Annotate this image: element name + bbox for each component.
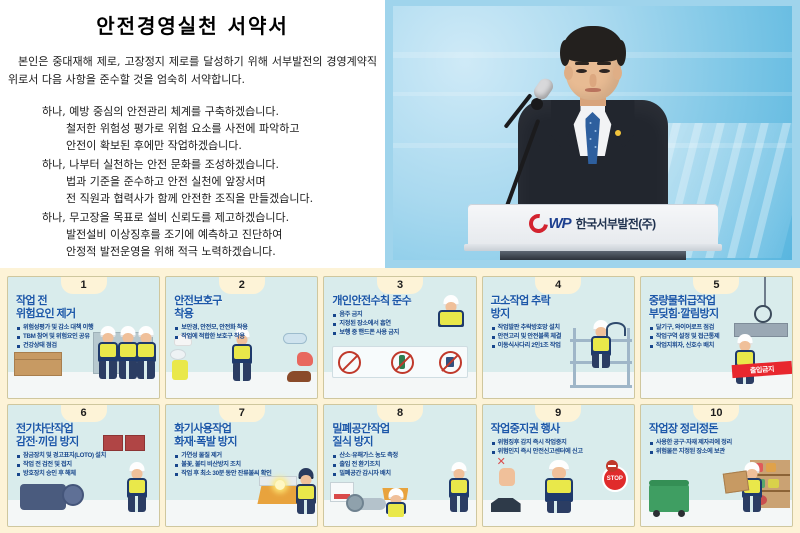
card-bullet: 밀폐공간 감시자 배치 (333, 470, 475, 478)
ceremony-photo: WP 한국서부발전(주) (385, 0, 800, 268)
pledge-item-detail: 발전설비 이상징후를 조기에 예측하고 진단하여 (8, 226, 377, 243)
card-floor (324, 372, 475, 398)
card-number: 2 (239, 280, 245, 291)
card-number-tab: 4 (535, 277, 581, 294)
raised-palm-icon (499, 468, 515, 486)
scaffold-rail (570, 361, 632, 364)
timber-stack (14, 352, 62, 360)
pledge-item-heading: 하나, 예방 중심의 안전관리 체계를 구축하겠습니다. (8, 103, 377, 120)
card-number: 5 (713, 280, 719, 291)
card-bullet: 안전고리 및 안전블록 체결 (492, 333, 634, 341)
mouth (585, 88, 601, 92)
warning-signboard (330, 482, 354, 502)
card-title: 전기차단작업 감전·끼임 방지 (16, 423, 159, 449)
card-bullet: 작업발판 추락방호망 설치 (492, 324, 634, 332)
speaker-figure (503, 26, 683, 216)
pledge-item-heading: 하나, 나부터 실천하는 안전 문화를 조성하겠습니다. (8, 156, 377, 173)
card-title: 개인안전수칙 준수 (332, 295, 475, 308)
pledge-document: 안전경영실천 서약서 본인은 중대재해 제로, 고장정지 제로를 달성하기 위해… (0, 0, 385, 268)
pledge-item-list: 하나, 예방 중심의 안전관리 체계를 구축하겠습니다. 철저한 위험성 평가로… (8, 103, 377, 260)
no-smoking-icon (338, 351, 361, 374)
card-bullet: 산소·유해가스 농도 측정 (333, 452, 475, 460)
safety-card-6[interactable]: 6 전기차단작업 감전·끼임 방지 잠금장치 및 경고표지(LOTO) 설치 작… (7, 404, 160, 527)
safety-card-3[interactable]: 3 개인안전수칙 준수 음주 금지 지정된 장소에서 흡연 보행 중 핸드폰 사… (323, 276, 476, 399)
card-number: 7 (239, 408, 245, 419)
podium-lip (464, 244, 722, 251)
card-number-tab: 1 (61, 277, 107, 294)
card-floor (166, 500, 317, 526)
card-title: 고소작업 추락 방지 (491, 295, 634, 321)
card-floor (8, 372, 159, 398)
card-number-tab: 5 (693, 277, 739, 294)
card-bullet-list: 위험징후 감지 즉시 작업중지 위험인지 즉시 안전신고센터에 신고 (492, 439, 634, 456)
pledge-intro-text: 본인은 중대재해 제로, 고장정지 제로를 달성하기 위해 서부발전의 경영계약… (8, 53, 377, 89)
card-number: 10 (710, 408, 722, 419)
card-bullet: 작업지휘자, 신호수 배치 (650, 342, 792, 350)
logo-swoosh-icon (529, 214, 548, 233)
x-mark-icon: ✕ (497, 457, 508, 468)
card-floor (483, 500, 634, 526)
card-bullet-list: 산소·유해가스 농도 측정 출입 전 환기조치 밀폐공간 감시자 배치 (333, 452, 475, 478)
card-bullet: 잠금장치 및 경고표지(LOTO) 설치 (17, 452, 159, 460)
card-number-tab: 8 (377, 405, 423, 422)
dust-mask-icon (170, 349, 186, 360)
stop-sign-icon: STOP (602, 466, 628, 492)
safety-card-1[interactable]: 1 작업 전 위험요인 제거 위험성평가 및 감소 대책 이행 TBM 참여 및… (7, 276, 160, 399)
prohibition-sign-icon (606, 460, 618, 472)
card-title: 밀폐공간작업 질식 방지 (332, 423, 475, 449)
safety-card-7[interactable]: 7 화기사용작업 화재·폭발 방지 가연성 물질 제거 불꽃, 불티 비산방지 … (165, 404, 318, 527)
podium-front-panel: WP 한국서부발전(주) (468, 204, 718, 244)
no-phone-walking-icon (439, 351, 462, 374)
ear-left (564, 66, 573, 80)
card-bullet-list: 잠금장치 및 경고표지(LOTO) 설치 작업 전 검전 및 접지 방호장치 승… (17, 452, 159, 478)
card-number: 6 (81, 408, 87, 419)
safety-card-row: 6 전기차단작업 감전·끼임 방지 잠금장치 및 경고표지(LOTO) 설치 작… (7, 404, 793, 527)
podium: WP 한국서부발전(주) (468, 204, 718, 260)
card-number: 3 (397, 280, 403, 291)
pledge-item-detail: 철저한 위험성 평가로 위험 요소를 사전에 파악하고 (8, 120, 377, 137)
card-bullet: 보안경, 안전모, 안전화 착용 (175, 324, 317, 332)
safety-card-2[interactable]: 2 안전보호구 착용 보안경, 안전모, 안전화 착용 작업에 적합한 보호구 … (165, 276, 318, 399)
pledge-item-detail: 전 직원과 협력사가 함께 안전한 조직을 만들겠습니다. (8, 190, 377, 207)
page-title: 안전경영실천 서약서 (8, 10, 377, 39)
card-floor (324, 500, 475, 526)
card-bullet: 이동식사다리 2인1조 작업 (492, 342, 634, 350)
card-number-tab: 7 (219, 405, 265, 422)
pledge-poster-page: 안전경영실천 서약서 본인은 중대재해 제로, 고장정지 제로를 달성하기 위해… (0, 0, 800, 533)
nose (589, 74, 596, 87)
card-number: 9 (555, 408, 561, 419)
top-section: 안전경영실천 서약서 본인은 중대재해 제로, 고장정지 제로를 달성하기 위해… (0, 0, 800, 268)
card-number-tab: 3 (377, 277, 423, 294)
pledge-item: 하나, 무고장을 목표로 설비 신뢰도를 제고하겠습니다. 발전설비 이상징후를… (8, 209, 377, 260)
safety-card-row: 1 작업 전 위험요인 제거 위험성평가 및 감소 대책 이행 TBM 참여 및… (7, 276, 793, 399)
card-title: 화기사용작업 화재·폭발 방지 (174, 423, 317, 449)
card-number: 1 (81, 280, 87, 291)
card-number-tab: 6 (61, 405, 107, 422)
photo-backdrop: WP 한국서부발전(주) (393, 6, 792, 260)
card-title: 작업 전 위험요인 제거 (16, 295, 159, 321)
card-floor (8, 500, 159, 526)
card-title: 작업장 정리정돈 (649, 423, 792, 436)
card-bullet: 사용한 공구·자재 제자리에 정리 (650, 439, 792, 447)
card-bullet: 작업 후 최소 30분 동안 잔류불씨 확인 (175, 470, 317, 478)
eye-left (576, 69, 587, 73)
pledge-item: 하나, 나부터 실천하는 안전 문화를 조성하겠습니다. 법과 기준을 준수하고… (8, 156, 377, 207)
pledge-item-detail: 안정적 발전운영을 위해 적극 노력하겠습니다. (8, 243, 377, 260)
ear-right (613, 66, 622, 80)
safety-gloves-icon (297, 352, 313, 366)
card-bullet: 위험성평가 및 감소 대책 이행 (17, 324, 159, 332)
logo-wp-text: WP (548, 215, 570, 232)
eye-right (599, 69, 610, 73)
card-bullet-list: 작업발판 추락방호망 설치 안전고리 및 안전블록 체결 이동식사다리 2인1조… (492, 324, 634, 350)
card-bullet-list: 가연성 물질 제거 불꽃, 불티 비산방지 조치 작업 후 최소 30분 동안 … (175, 452, 317, 478)
card-bullet: 건강상태 점검 (17, 342, 159, 350)
card-floor (641, 500, 792, 526)
card-title: 중량물취급작업 부딪힘·깔림방지 (649, 295, 792, 321)
lapel-pin (615, 130, 621, 136)
card-bullet: 작업구역 설정 및 접근통제 (650, 333, 792, 341)
safety-card-8[interactable]: 8 밀폐공간작업 질식 방지 산소·유해가스 농도 측정 출입 전 환기조치 밀… (323, 404, 476, 527)
logo-company-name: 한국서부발전(주) (576, 215, 656, 232)
card-floor (166, 372, 317, 398)
card-floor (483, 372, 634, 398)
carried-box (723, 470, 750, 493)
card-bullet: 위험징후 감지 즉시 작업중지 (492, 439, 634, 447)
safety-card-4[interactable]: 4 고소작업 추락 방지 작업발판 추락방호망 설치 안전고리 및 안전블록 체… (482, 276, 635, 399)
podium-base (500, 251, 686, 260)
card-bullet: 음주 금지 (333, 311, 475, 319)
eyebrow-right (597, 62, 611, 65)
card-bullet: 작업 전 검전 및 접지 (17, 461, 159, 469)
safety-card-9[interactable]: 9 작업중지권 행사 위험징후 감지 즉시 작업중지 위험인지 즉시 안전신고센… (482, 404, 635, 527)
card-bullet-list: 위험성평가 및 감소 대책 이행 TBM 참여 및 위험요인 공유 건강상태 점… (17, 324, 159, 350)
card-bullet: 작업에 적합한 보호구 착용 (175, 333, 317, 341)
eyebrow-left (575, 62, 589, 65)
card-floor (641, 372, 792, 398)
pledge-item: 하나, 예방 중심의 안전관리 체계를 구축하겠습니다. 철저한 위험성 평가로… (8, 103, 377, 154)
card-bullet: 출입 전 환기조치 (333, 461, 475, 469)
card-bullet: 방호장치 승인 후 해체 (17, 470, 159, 478)
barricade-icon (382, 488, 408, 500)
no-alcohol-icon (391, 351, 414, 374)
card-bullet: 지정된 장소에서 흡연 (333, 320, 475, 328)
company-logo: WP 한국서부발전(주) (468, 214, 718, 233)
welding-spark-icon (275, 480, 285, 490)
hair (562, 26, 624, 62)
safety-card-5[interactable]: 5 중량물취급작업 부딪힘·깔림방지 달기구, 와이어로프 점검 작업구역 설정… (640, 276, 793, 399)
pledge-item-detail: 안전이 확보된 후에만 작업하겠습니다. (8, 137, 377, 154)
pledge-item-detail: 법과 기준을 준수하고 안전 실천에 앞장서며 (8, 173, 377, 190)
card-number: 8 (397, 408, 403, 419)
card-number-tab: 2 (219, 277, 265, 294)
card-bullet: 불꽃, 불티 비산방지 조치 (175, 461, 317, 469)
card-title: 작업중지권 행사 (491, 423, 634, 436)
card-bullet: 위험물은 지정된 장소에 보관 (650, 448, 792, 456)
card-bullet: 달기구, 와이어로프 점검 (650, 324, 792, 332)
card-bullet-list: 보안경, 안전모, 안전화 착용 작업에 적합한 보호구 착용 (175, 324, 317, 341)
card-number-tab: 10 (693, 405, 739, 422)
card-number: 4 (555, 280, 561, 291)
card-bullet: TBM 참여 및 위험요인 공유 (17, 333, 159, 341)
card-bullet-list: 달기구, 와이어로프 점검 작업구역 설정 및 접근통제 작업지휘자, 신호수 … (650, 324, 792, 350)
card-bullet: 보행 중 핸드폰 사용 금지 (333, 329, 475, 337)
card-bullet-list: 음주 금지 지정된 장소에서 흡연 보행 중 핸드폰 사용 금지 (333, 311, 475, 337)
card-bullet-list: 사용한 공구·자재 제자리에 정리 위험물은 지정된 장소에 보관 (650, 439, 792, 456)
card-bullet: 위험인지 즉시 안전신고센터에 신고 (492, 448, 634, 456)
card-number-tab: 9 (535, 405, 581, 422)
safety-card-10[interactable]: 10 작업장 정리정돈 사용한 공구·자재 제자리에 정리 위험물은 지정된 장… (640, 404, 793, 527)
pledge-item-heading: 하나, 무고장을 목표로 설비 신뢰도를 제고하겠습니다. (8, 209, 377, 226)
card-bullet: 가연성 물질 제거 (175, 452, 317, 460)
card-title: 안전보호구 착용 (174, 295, 317, 321)
safety-rules-section: 1 작업 전 위험요인 제거 위험성평가 및 감소 대책 이행 TBM 참여 및… (0, 268, 800, 533)
